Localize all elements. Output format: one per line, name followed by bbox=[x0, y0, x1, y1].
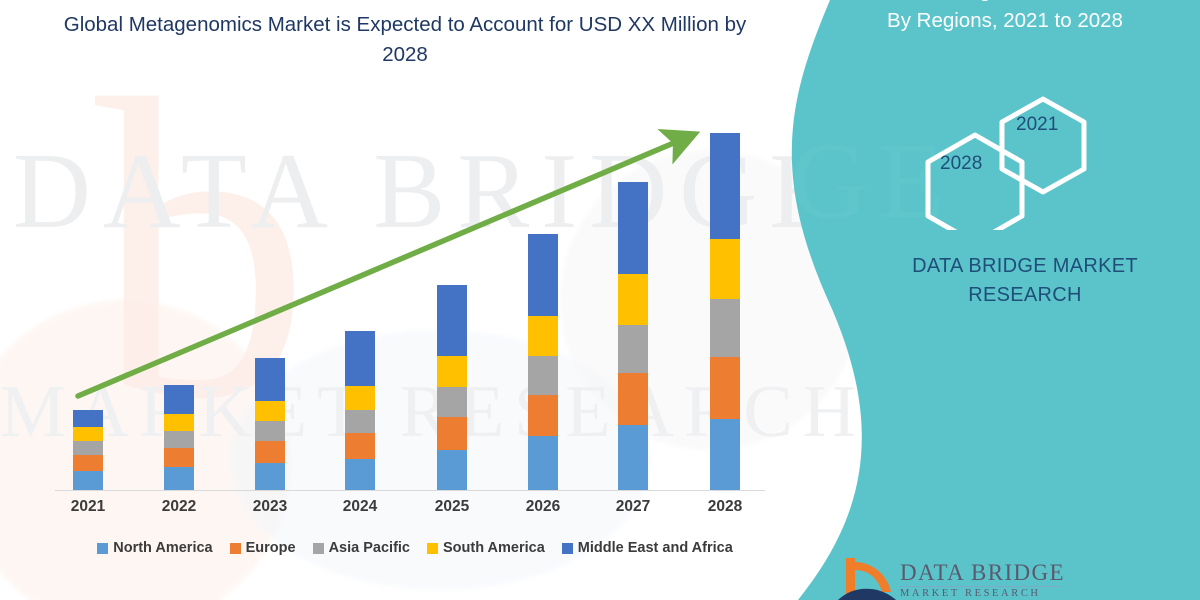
company-logo: DATA BRIDGE MARKET RESEARCH bbox=[838, 556, 1178, 600]
bar-segment-asia-pacific[interactable] bbox=[255, 421, 285, 441]
brand-name-line2: RESEARCH bbox=[880, 281, 1170, 310]
bar-segment-europe[interactable] bbox=[164, 448, 194, 467]
x-axis-label-2028: 2028 bbox=[690, 498, 760, 516]
bar-segment-asia-pacific[interactable] bbox=[437, 387, 467, 417]
legend-label: Europe bbox=[246, 540, 296, 556]
x-axis-label-2023: 2023 bbox=[235, 498, 305, 516]
bar-2023[interactable] bbox=[255, 358, 285, 490]
bar-segment-asia-pacific[interactable] bbox=[164, 431, 194, 448]
chart-legend: North AmericaEuropeAsia PacificSouth Ame… bbox=[55, 540, 775, 556]
hexagon-2021-icon bbox=[1002, 99, 1084, 192]
x-axis-label-2021: 2021 bbox=[53, 498, 123, 516]
bar-segment-north-america[interactable] bbox=[255, 463, 285, 490]
legend-item-middle-east-and-africa[interactable]: Middle East and Africa bbox=[562, 540, 733, 556]
bar-2022[interactable] bbox=[164, 385, 194, 490]
x-axis-label-2026: 2026 bbox=[508, 498, 578, 516]
bar-segment-europe[interactable] bbox=[710, 357, 740, 419]
x-axis-label-2025: 2025 bbox=[417, 498, 487, 516]
bar-segment-middle-east-and-africa[interactable] bbox=[73, 410, 103, 427]
bar-segment-south-america[interactable] bbox=[345, 386, 375, 410]
legend-item-europe[interactable]: Europe bbox=[230, 540, 296, 556]
bar-segment-europe[interactable] bbox=[73, 455, 103, 471]
bar-segment-south-america[interactable] bbox=[528, 316, 558, 356]
legend-item-north-america[interactable]: North America bbox=[97, 540, 212, 556]
bar-segment-europe[interactable] bbox=[255, 441, 285, 463]
bar-segment-asia-pacific[interactable] bbox=[618, 325, 648, 373]
legend-item-asia-pacific[interactable]: Asia Pacific bbox=[313, 540, 410, 556]
bar-segment-south-america[interactable] bbox=[437, 356, 467, 387]
panel-title-line2: By Regions, 2021 to 2028 bbox=[820, 6, 1190, 36]
bar-2025[interactable] bbox=[437, 285, 467, 490]
bar-segment-north-america[interactable] bbox=[73, 471, 103, 490]
bar-segment-middle-east-and-africa[interactable] bbox=[164, 385, 194, 414]
bar-2021[interactable] bbox=[73, 410, 103, 490]
logo-tagline: MARKET RESEARCH bbox=[900, 588, 1041, 599]
bar-segment-middle-east-and-africa[interactable] bbox=[618, 182, 648, 274]
bar-segment-europe[interactable] bbox=[437, 417, 467, 450]
bar-segment-middle-east-and-africa[interactable] bbox=[528, 234, 558, 316]
bar-segment-middle-east-and-africa[interactable] bbox=[255, 358, 285, 401]
brand-name: DATA BRIDGE MARKET RESEARCH bbox=[880, 252, 1170, 310]
bar-segment-middle-east-and-africa[interactable] bbox=[710, 133, 740, 239]
bar-segment-north-america[interactable] bbox=[345, 459, 375, 490]
growth-arrow-icon bbox=[0, 0, 790, 540]
bar-segment-asia-pacific[interactable] bbox=[73, 441, 103, 455]
bar-segment-north-america[interactable] bbox=[437, 450, 467, 490]
logo-divider bbox=[900, 586, 1060, 587]
logo-name: DATA BRIDGE bbox=[900, 560, 1065, 586]
legend-swatch-icon bbox=[97, 543, 108, 554]
legend-item-south-america[interactable]: South America bbox=[427, 540, 545, 556]
bridge-logo-icon bbox=[838, 556, 896, 600]
legend-label: North America bbox=[113, 540, 212, 556]
bar-segment-north-america[interactable] bbox=[164, 467, 194, 490]
bar-segment-middle-east-and-africa[interactable] bbox=[437, 285, 467, 356]
x-axis-label-2027: 2027 bbox=[598, 498, 668, 516]
legend-swatch-icon bbox=[562, 543, 573, 554]
bar-segment-europe[interactable] bbox=[345, 433, 375, 459]
hexagon-badges: 2028 2021 bbox=[920, 95, 1120, 230]
page-title: Global Metagenomics Market is Expected t… bbox=[55, 10, 755, 70]
legend-label: Middle East and Africa bbox=[578, 540, 733, 556]
bar-segment-europe[interactable] bbox=[528, 395, 558, 436]
bar-segment-south-america[interactable] bbox=[164, 414, 194, 431]
stacked-bar-chart: 20212022202320242025202620272028 bbox=[0, 0, 790, 540]
hexagon-2021-label: 2021 bbox=[1016, 114, 1058, 136]
bar-2026[interactable] bbox=[528, 234, 558, 490]
legend-swatch-icon bbox=[313, 543, 324, 554]
x-axis-line bbox=[55, 490, 765, 491]
legend-swatch-icon bbox=[427, 543, 438, 554]
panel-title: Global Metagenomics Market, By Regions, … bbox=[820, 0, 1190, 36]
bar-segment-south-america[interactable] bbox=[618, 274, 648, 325]
bar-segment-north-america[interactable] bbox=[528, 436, 558, 490]
bar-segment-south-america[interactable] bbox=[73, 427, 103, 441]
hexagon-2028-icon bbox=[928, 135, 1022, 230]
bar-2024[interactable] bbox=[345, 331, 375, 490]
bar-segment-south-america[interactable] bbox=[255, 401, 285, 421]
x-axis-label-2024: 2024 bbox=[325, 498, 395, 516]
legend-swatch-icon bbox=[230, 543, 241, 554]
bar-segment-middle-east-and-africa[interactable] bbox=[345, 331, 375, 386]
bar-2028[interactable] bbox=[710, 133, 740, 490]
bar-segment-north-america[interactable] bbox=[710, 419, 740, 490]
bar-2027[interactable] bbox=[618, 182, 648, 490]
infographic-root: b DATA BRIDGE MARKET RESEARCH 2021202220… bbox=[0, 0, 1200, 600]
legend-label: South America bbox=[443, 540, 545, 556]
bar-segment-asia-pacific[interactable] bbox=[528, 356, 558, 395]
brand-name-line1: DATA BRIDGE MARKET bbox=[880, 252, 1170, 281]
bar-segment-europe[interactable] bbox=[618, 373, 648, 425]
bar-segment-north-america[interactable] bbox=[618, 425, 648, 490]
x-axis-label-2022: 2022 bbox=[144, 498, 214, 516]
bar-segment-south-america[interactable] bbox=[710, 239, 740, 299]
legend-label: Asia Pacific bbox=[329, 540, 410, 556]
bar-segment-asia-pacific[interactable] bbox=[710, 299, 740, 357]
bar-segment-asia-pacific[interactable] bbox=[345, 410, 375, 433]
hexagon-2028-label: 2028 bbox=[940, 153, 982, 175]
